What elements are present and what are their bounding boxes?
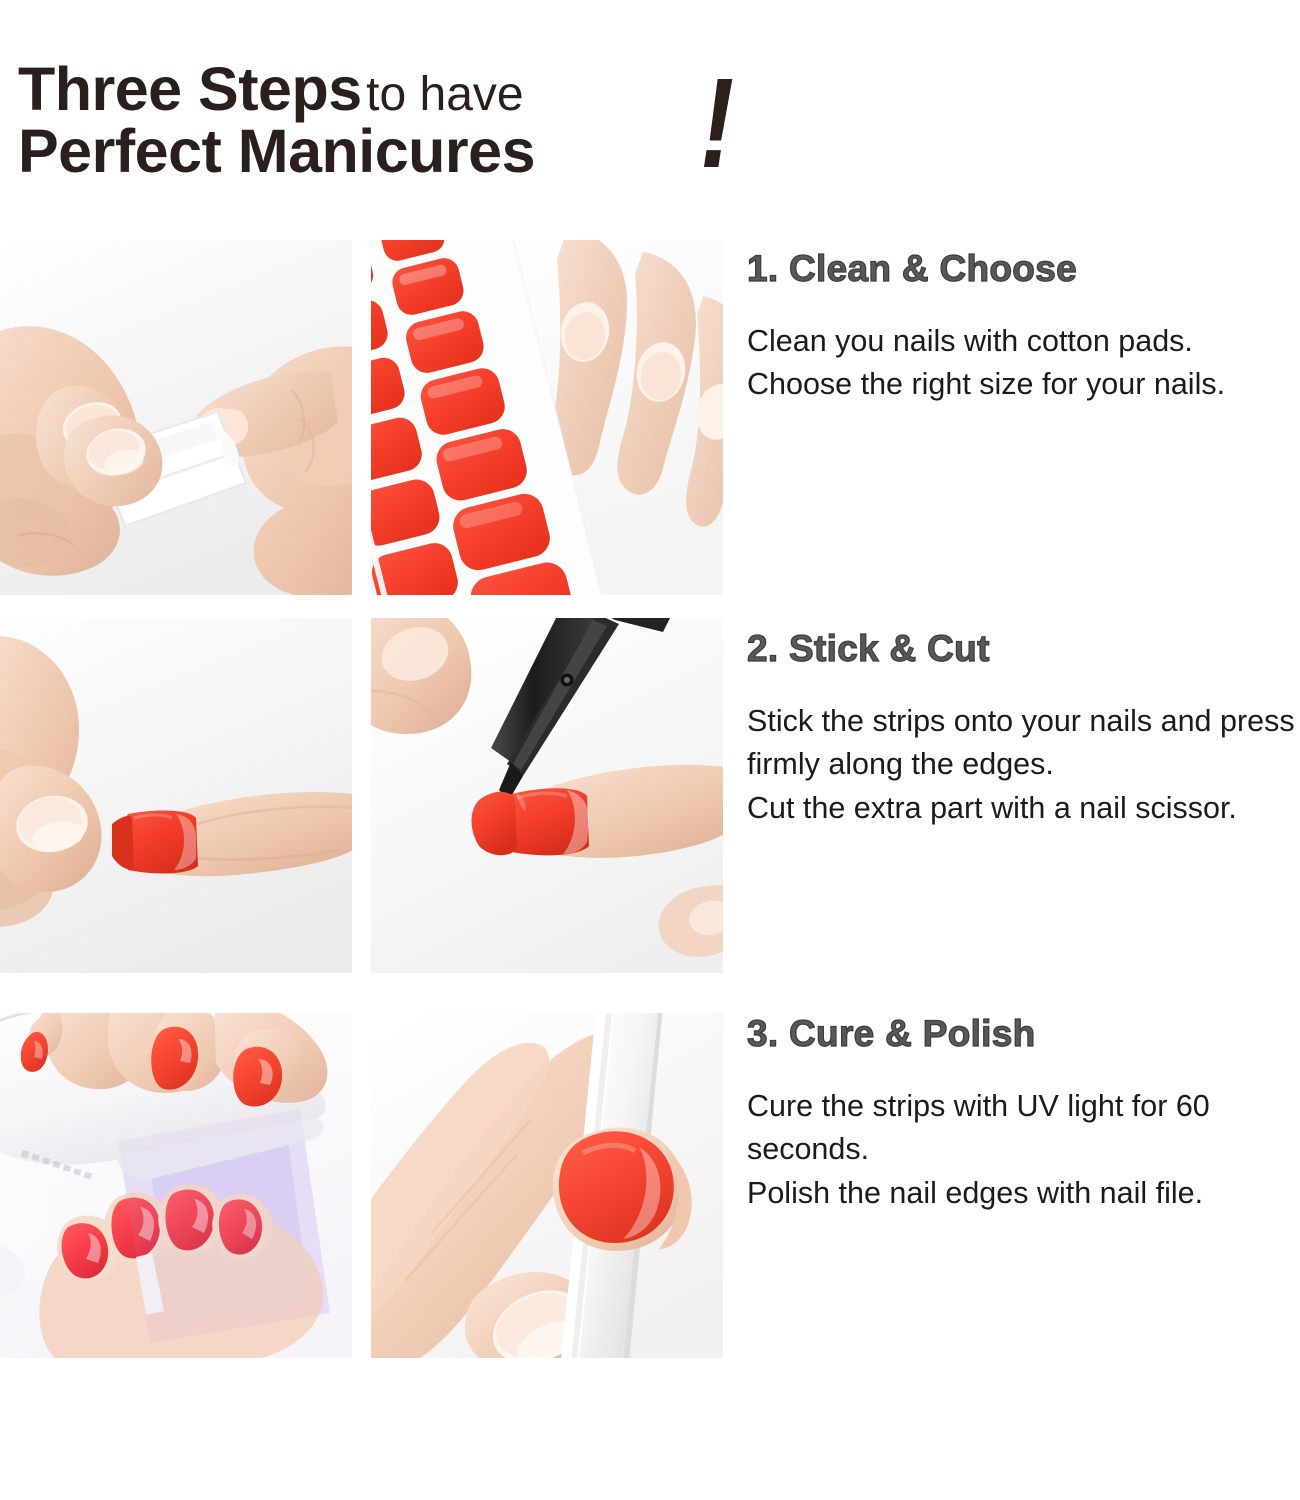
photo-stick-strip-on-nail: [0, 618, 352, 973]
title-line-2: Perfect Manicures: [18, 120, 798, 182]
step-1-heading: 1. Clean & Choose: [747, 248, 1300, 290]
photo-cure-under-uv-lamp: [0, 1013, 352, 1358]
step-2-body: Stick the strips onto your nails and pre…: [747, 700, 1300, 830]
step-3-line-1: Cure the strips with UV light for 60 sec…: [747, 1085, 1300, 1172]
step-3-body: Cure the strips with UV light for 60 sec…: [747, 1085, 1300, 1215]
title-strong-2: Perfect Manicures: [18, 117, 535, 185]
step-2: 2. Stick & Cut Stick the strips onto you…: [747, 628, 1300, 830]
step-3: 3. Cure & Polish Cure the strips with UV…: [747, 1013, 1300, 1215]
step-1-line-1: Clean you nails with cotton pads.: [747, 320, 1300, 363]
photo-clean-nail-with-cotton-pad: [0, 240, 352, 595]
photo-cut-strip-with-scissor: [371, 618, 723, 973]
photo-nail-strip-sheet: [371, 240, 723, 595]
page-title: Three Steps to have Perfect Manicures: [18, 58, 798, 182]
title-line-1: Three Steps to have: [18, 58, 798, 120]
step-2-line-2: Cut the extra part with a nail scissor.: [747, 787, 1300, 830]
step-1: 1. Clean & Choose Clean you nails with c…: [747, 248, 1300, 407]
exclamation-mark-icon: !: [700, 60, 734, 188]
step-1-line-2: Choose the right size for your nails.: [747, 363, 1300, 406]
photo-polish-edge-with-file: [371, 1013, 723, 1358]
title-strong-1: Three Steps: [18, 55, 362, 123]
infographic-page: Three Steps to have Perfect Manicures !: [0, 0, 1300, 1500]
step-2-heading: 2. Stick & Cut: [747, 628, 1300, 670]
photo-grid: [0, 240, 723, 1358]
step-3-heading: 3. Cure & Polish: [747, 1013, 1300, 1055]
step-2-line-1: Stick the strips onto your nails and pre…: [747, 700, 1300, 787]
step-3-line-2: Polish the nail edges with nail file.: [747, 1172, 1300, 1215]
step-1-body: Clean you nails with cotton pads. Choose…: [747, 320, 1300, 407]
title-light-1: to have: [366, 68, 523, 121]
